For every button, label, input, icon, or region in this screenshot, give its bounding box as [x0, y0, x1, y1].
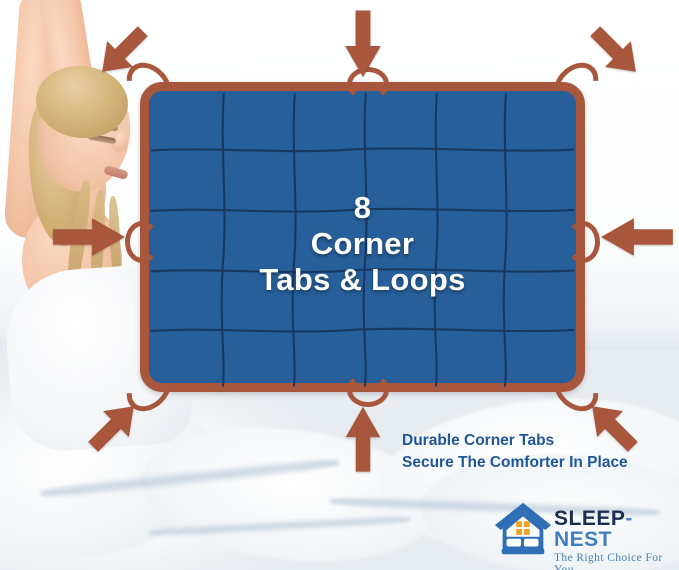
brand-name-part2: NEST [554, 528, 612, 551]
tagline-line-1: Durable Corner Tabs [402, 430, 628, 452]
house-with-bed-icon [492, 498, 554, 560]
headline-line-2: Tabs & Loops [140, 262, 585, 298]
arrow-bottom-left [78, 392, 148, 462]
brand-name-dash: - [625, 507, 633, 530]
arrow-bottom-center [340, 404, 386, 476]
arrow-right [598, 212, 676, 262]
brand-text: SLEEP-NEST The Right Choice For You [554, 508, 672, 570]
tagline-block: Durable Corner Tabs Secure The Comforter… [402, 430, 628, 475]
brand-slogan: The Right Choice For You [554, 553, 672, 570]
arrow-left [50, 212, 128, 262]
comforter-diagram: 8 Corner Tabs & Loops [140, 82, 585, 392]
brand-name-part1: SLEEP [554, 507, 625, 530]
tagline-line-2: Secure The Comforter In Place [402, 452, 628, 474]
headline-line-1: Corner [140, 226, 585, 262]
brand-name: SLEEP-NEST [554, 508, 672, 550]
leg [150, 415, 270, 485]
product-infographic: 8 Corner Tabs & Loops [0, 0, 679, 570]
headline-count: 8 [140, 190, 585, 226]
arrow-top-center [340, 6, 386, 80]
arrow-top-right [580, 16, 650, 86]
edge-tab-bottom [347, 373, 389, 407]
arrow-top-left [88, 16, 158, 86]
headline-block: 8 Corner Tabs & Loops [140, 190, 585, 298]
brand-logo: SLEEP-NEST The Right Choice For You [492, 498, 672, 564]
